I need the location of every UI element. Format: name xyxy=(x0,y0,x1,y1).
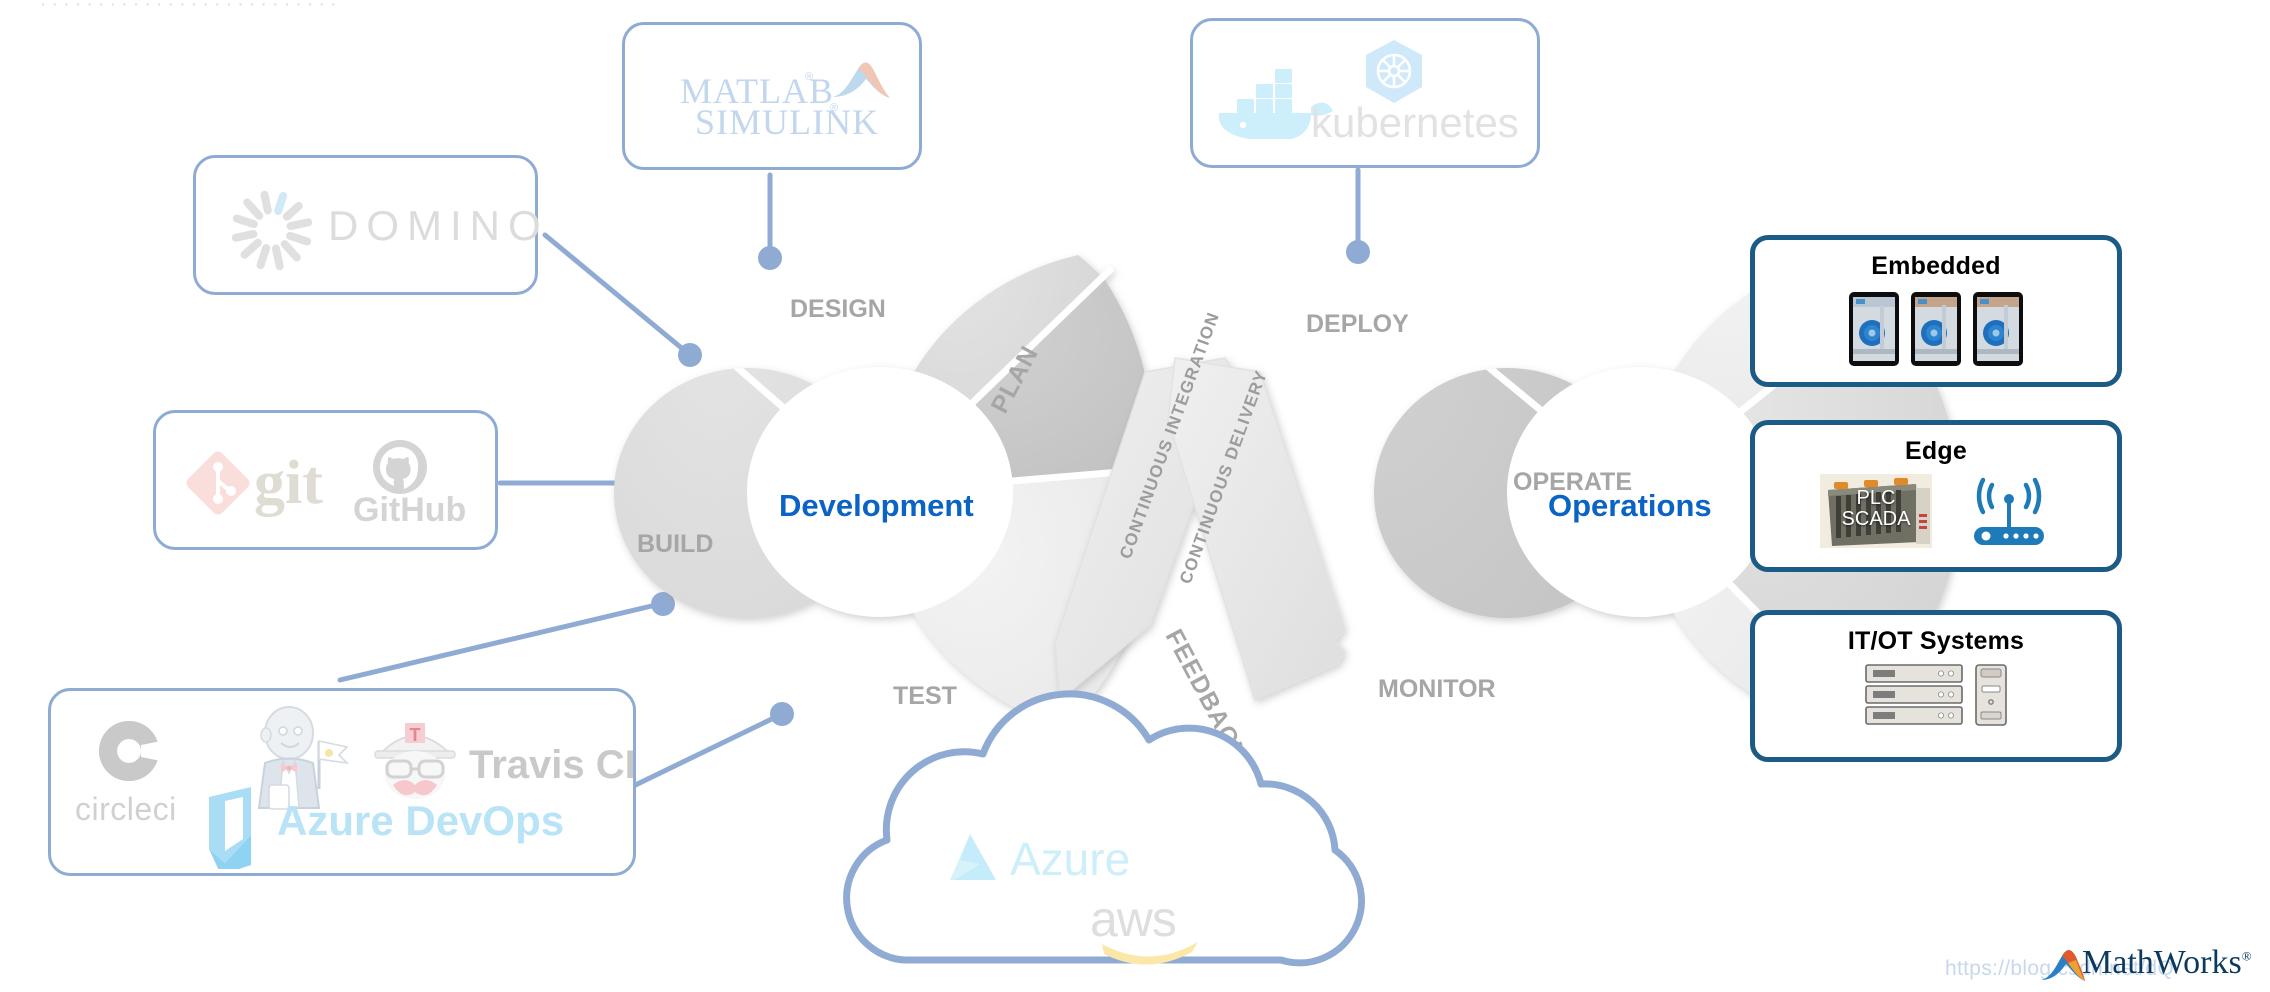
tool-card-containers[interactable]: kubernetes xyxy=(1190,18,1540,168)
lobe-label-deploy: DEPLOY xyxy=(1306,310,1409,339)
circleci-wordmark: circleci xyxy=(75,791,177,828)
travisci-wordmark: Travis CI xyxy=(469,743,636,788)
embedded-device-photo xyxy=(1910,291,1962,367)
tool-card-scm[interactable]: git GitHub xyxy=(153,410,498,550)
lobe-label-build: BUILD xyxy=(637,530,713,559)
azure-devops-icon xyxy=(199,783,279,869)
plc-scada-photo: PLC SCADA xyxy=(1820,474,1932,553)
lobe-label-design: DESIGN xyxy=(790,295,886,324)
azure-logo-icon xyxy=(940,830,1014,886)
svg-text:T: T xyxy=(410,725,421,745)
target-card-edge[interactable]: Edge xyxy=(1750,420,2122,572)
lobe-label-monitor: MONITOR xyxy=(1378,675,1496,704)
target-card-embedded[interactable]: Embedded xyxy=(1750,235,2122,387)
tool-card-modeling[interactable]: MATLAB ® SIMULINK ® xyxy=(622,22,922,170)
target-title-itot: IT/OT Systems xyxy=(1848,627,2024,656)
git-wordmark: git xyxy=(254,448,323,519)
wireless-router-icon xyxy=(1966,477,2052,551)
github-wordmark: GitHub xyxy=(353,491,466,530)
embedded-device-photo xyxy=(1848,291,1900,367)
domino-wordmark: DOMINO xyxy=(328,202,549,250)
scada-label: SCADA xyxy=(1820,509,1932,530)
travisci-worker-icon: T xyxy=(369,713,461,805)
git-diamond-icon xyxy=(178,443,258,523)
embedded-device-photos xyxy=(1848,291,2024,367)
tool-card-ci[interactable]: circleci xyxy=(48,688,636,876)
matlab-registered-mark: ® xyxy=(805,71,813,83)
aws-smile-icon xyxy=(1098,938,1208,966)
development-center-label: Development xyxy=(779,488,974,524)
target-title-edge: Edge xyxy=(1905,437,1967,466)
target-title-embedded: Embedded xyxy=(1871,252,2000,281)
rack-servers-and-tower xyxy=(1865,664,2007,726)
embedded-device-photo xyxy=(1972,291,2024,367)
lobe-label-test: TEST xyxy=(893,682,957,711)
mathworks-wordmark: MathWorks® xyxy=(2082,944,2252,982)
matlab-membrane-icon xyxy=(830,57,892,109)
tower-server-icon xyxy=(1975,664,2007,726)
azure-wordmark: Azure xyxy=(1010,832,1130,886)
kubernetes-wordmark: kubernetes xyxy=(1311,99,1519,147)
circleci-icon xyxy=(93,715,165,787)
operations-center-label: Operations xyxy=(1548,488,1712,524)
tool-card-domino[interactable]: DOMINO xyxy=(193,155,538,295)
plc-label: PLC xyxy=(1820,488,1932,509)
target-card-itot[interactable]: IT/OT Systems xyxy=(1750,610,2122,762)
rack-servers-icon xyxy=(1865,664,1965,726)
domino-spokes-icon xyxy=(224,182,320,278)
mathworks-membrane-icon xyxy=(2040,946,2086,988)
azure-devops-wordmark: Azure DevOps xyxy=(277,797,564,845)
